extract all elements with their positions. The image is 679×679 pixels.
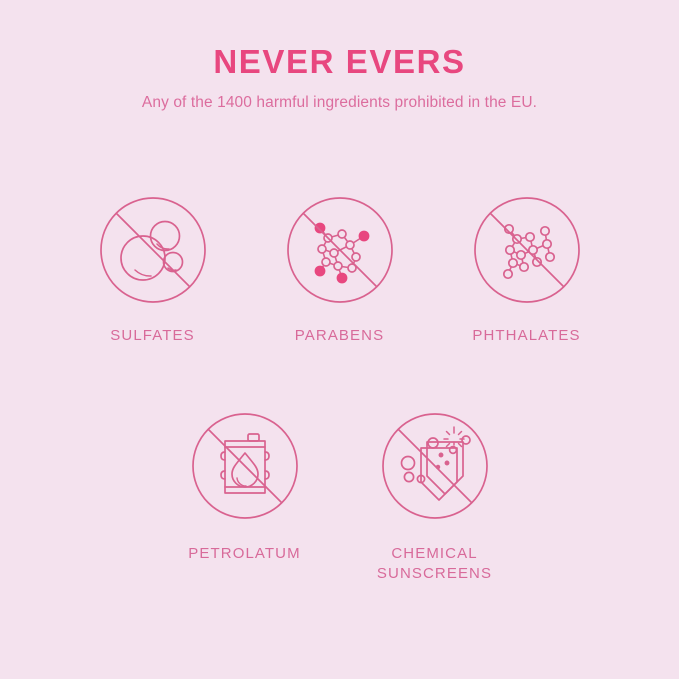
item-label: PETROLATUM (188, 544, 300, 564)
icon-row-2: PETROLATUM (0, 412, 679, 584)
item-parabens: PARABENS (286, 196, 394, 346)
no-petrolatum-icon (191, 412, 299, 520)
no-sulfates-icon (99, 196, 207, 304)
no-chemical-sunscreens-icon (381, 412, 489, 520)
item-phthalates: PHTHALATES (473, 196, 581, 346)
item-label: CHEMICAL SUNSCREENS (377, 544, 492, 584)
item-chemical-sunscreens: CHEMICAL SUNSCREENS (381, 412, 489, 584)
item-sulfates: SULFATES (99, 196, 207, 346)
icon-grid: SULFATES (0, 196, 679, 583)
page-title: NEVER EVERS (0, 44, 679, 80)
item-petrolatum: PETROLATUM (191, 412, 299, 584)
header: NEVER EVERS Any of the 1400 harmful ingr… (0, 44, 679, 112)
item-label: PARABENS (295, 326, 384, 346)
item-label: SULFATES (110, 326, 194, 346)
item-label: PHTHALATES (472, 326, 580, 346)
no-phthalates-icon (473, 196, 581, 304)
never-evers-infographic: NEVER EVERS Any of the 1400 harmful ingr… (0, 0, 679, 679)
icon-row-1: SULFATES (0, 196, 679, 346)
page-subtitle: Any of the 1400 harmful ingredients proh… (0, 94, 679, 112)
no-parabens-icon (286, 196, 394, 304)
